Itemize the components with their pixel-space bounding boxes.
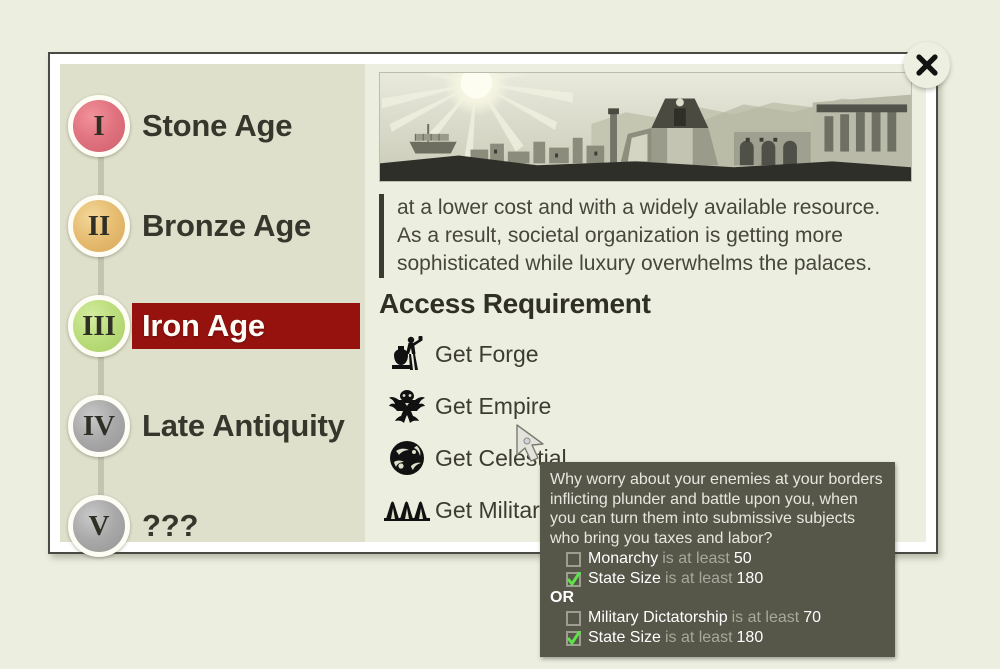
eagle-icon [379, 386, 435, 426]
requirement-label: Get Forge [435, 341, 539, 368]
sidebar-item-late-antiquity[interactable]: IV Late Antiquity [60, 376, 365, 476]
requirement-row-forge[interactable]: Get Forge [379, 328, 912, 380]
condition-comparator: is at least [665, 570, 733, 588]
condition-comparator: is at least [665, 629, 733, 647]
age-badge-numeral: V [68, 495, 130, 557]
condition-comparator: is at least [662, 550, 730, 568]
age-badge-numeral: IV [68, 395, 130, 457]
checkbox-checked-icon [566, 631, 581, 646]
close-button[interactable] [904, 42, 950, 88]
celestial-icon [379, 438, 435, 478]
sidebar-item-stone-age[interactable]: I Stone Age [60, 76, 365, 176]
age-badge-wrap: III [60, 295, 138, 357]
condition-value: 70 [803, 609, 821, 627]
checkbox-checked-icon [566, 572, 581, 587]
close-icon [913, 51, 941, 79]
age-badge-wrap: IV [60, 395, 138, 457]
sidebar-item-label: Iron Age [138, 308, 265, 344]
sidebar-item-label: Late Antiquity [138, 408, 345, 444]
condition-name: State Size [588, 629, 661, 647]
age-list: I Stone Age II Bronze Age III Iron Age [60, 64, 365, 576]
age-badge-wrap: I [60, 95, 138, 157]
sidebar-item-iron-age[interactable]: III Iron Age [60, 276, 365, 376]
tooltip-condition: Monarchy is at least 50 [550, 550, 885, 568]
tooltip-condition: State Size is at least 180 [550, 570, 885, 588]
condition-comparator: is at least [732, 609, 800, 627]
checkbox-unchecked-icon [566, 611, 581, 626]
sidebar-item-label: ??? [138, 508, 198, 544]
military-icon [379, 497, 435, 523]
tooltip-or-separator: OR [550, 589, 885, 607]
requirement-tooltip: Why worry about your enemies at your bor… [540, 462, 895, 657]
checkbox-unchecked-icon [566, 552, 581, 567]
sidebar-item-label: Bronze Age [138, 208, 311, 244]
tooltip-condition: Military Dictatorship is at least 70 [550, 609, 885, 627]
tooltip-condition: State Size is at least 180 [550, 629, 885, 647]
sidebar-item-label: Stone Age [138, 108, 292, 144]
tooltip-body: Why worry about your enemies at your bor… [550, 470, 885, 548]
condition-name: Military Dictatorship [588, 609, 728, 627]
sidebar-item-bronze-age[interactable]: II Bronze Age [60, 176, 365, 276]
condition-value: 180 [737, 629, 764, 647]
age-description: at a lower cost and with a widely availa… [379, 194, 897, 278]
condition-value: 50 [734, 550, 752, 568]
sidebar-item-unknown-age[interactable]: V ??? [60, 476, 365, 576]
age-badge-numeral: I [68, 95, 130, 157]
condition-name: Monarchy [588, 550, 658, 568]
age-badge-numeral: III [68, 295, 130, 357]
ancient-city-illustration [379, 72, 912, 182]
requirement-row-empire[interactable]: Get Empire [379, 380, 912, 432]
age-badge-numeral: II [68, 195, 130, 257]
condition-value: 180 [737, 570, 764, 588]
blacksmith-icon [379, 334, 435, 374]
requirement-label: Get Military [435, 497, 551, 524]
requirement-label: Get Empire [435, 393, 551, 420]
age-badge-wrap: II [60, 195, 138, 257]
condition-name: State Size [588, 570, 661, 588]
age-badge-wrap: V [60, 495, 138, 557]
age-sidebar: I Stone Age II Bronze Age III Iron Age [60, 64, 365, 542]
access-requirement-heading: Access Requirement [379, 288, 912, 320]
